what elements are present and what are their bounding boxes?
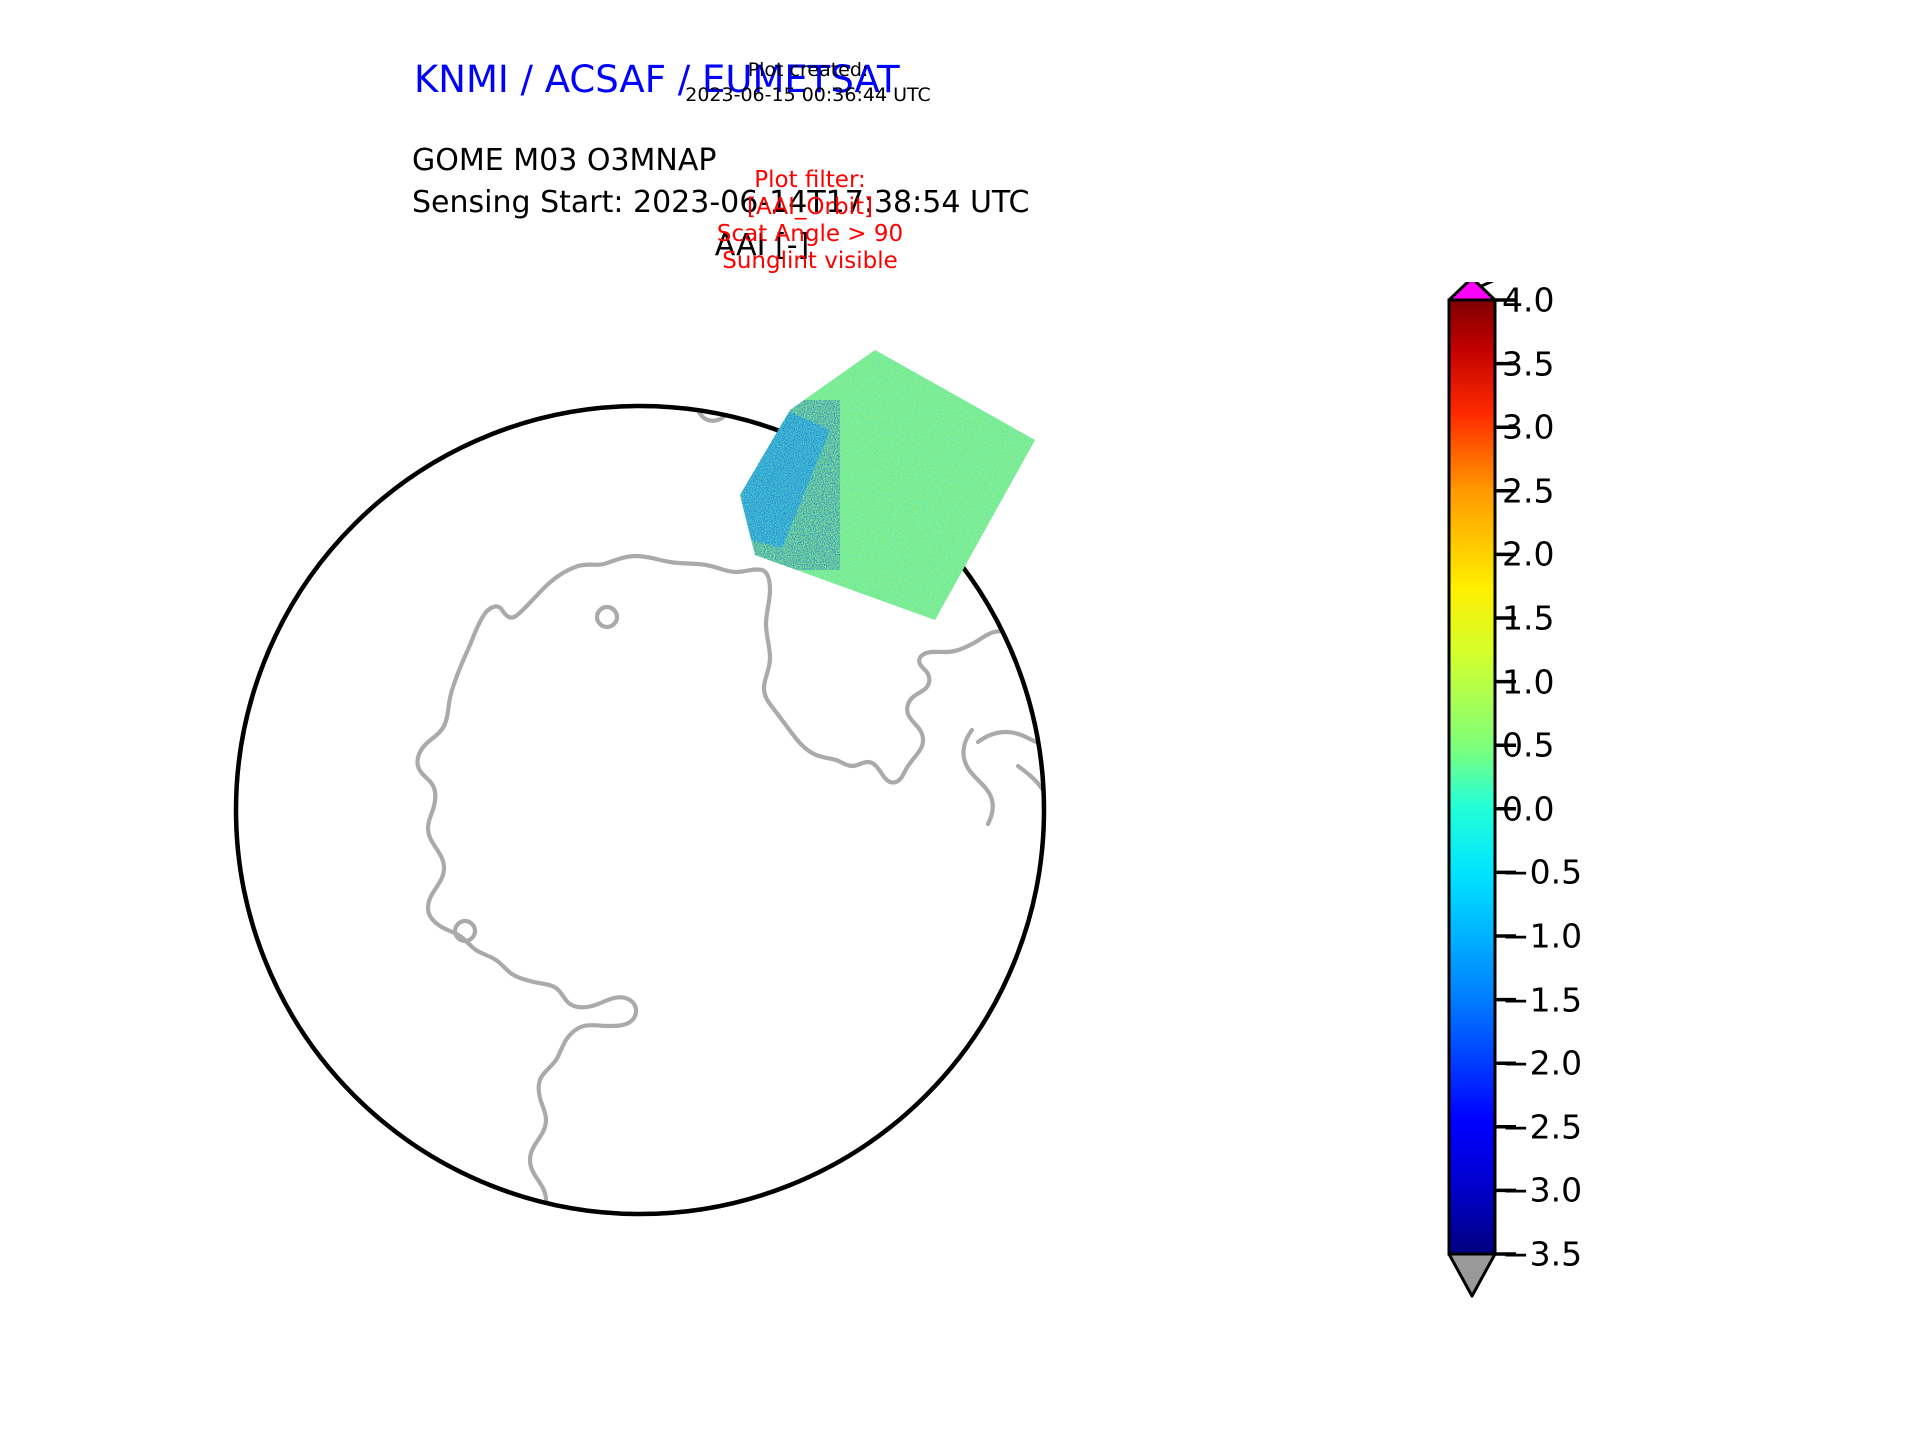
island-falklands <box>524 346 565 380</box>
colorbar-tick-label: 0.0 <box>1502 789 1554 828</box>
south-america-tip <box>664 300 729 421</box>
colorbar-tick-label: 3.5 <box>1502 344 1554 383</box>
colorbar-tick-label: −3.0 <box>1502 1171 1582 1210</box>
plot-filter-orbit: [AAI_Orbit] <box>640 194 980 221</box>
colorbar-tick-labels: 4.0 3.5 3.0 2.5 2.0 1.5 1.0 0.5 0.0 −0.5… <box>1502 282 1652 1302</box>
colorbar: 4.0 3.5 3.0 2.5 2.0 1.5 1.0 0.5 0.0 −0.5… <box>1440 282 1740 1302</box>
plot-root: KNMI / ACSAF / EUMETSAT Plot created: 20… <box>0 0 1920 1440</box>
polar-map-svg <box>130 280 1270 1340</box>
colorbar-tick-label: 2.0 <box>1502 535 1554 574</box>
plot-created-timestamp: 2023-06-15 00:36:44 UTC <box>643 83 973 108</box>
colorbar-gradient <box>1449 300 1495 1254</box>
colorbar-tick-label: −1.5 <box>1502 980 1582 1019</box>
colorbar-tick-label: −2.0 <box>1502 1044 1582 1083</box>
plot-filter-label: Plot filter: <box>640 167 980 194</box>
colorbar-tick-label: 2.5 <box>1502 471 1554 510</box>
colorbar-tick-label: 1.5 <box>1502 599 1554 638</box>
colorbar-tick-label: 3.0 <box>1502 408 1554 447</box>
plot-filter-sunglint: Sunglint visible <box>640 248 980 275</box>
colorbar-tick-label: 1.0 <box>1502 662 1554 701</box>
plot-created-block: Plot created: 2023-06-15 00:36:44 UTC <box>643 58 973 108</box>
colorbar-tick-label: −2.5 <box>1502 1107 1582 1146</box>
colorbar-tick-label: 0.5 <box>1502 726 1554 765</box>
colorbar-under-arrow <box>1449 1254 1495 1296</box>
plot-filter-scat-angle: Scat Angle > 90 <box>640 221 980 248</box>
plot-filter-block: Plot filter: [AAI_Orbit] Scat Angle > 90… <box>640 167 980 275</box>
colorbar-tick-label: −0.5 <box>1502 853 1582 892</box>
colorbar-tick-label: 4.0 <box>1502 281 1554 320</box>
australia-south-coast <box>1090 709 1222 739</box>
plot-created-label: Plot created: <box>643 58 973 83</box>
map-area <box>130 280 1270 1340</box>
colorbar-tick-label: −1.0 <box>1502 917 1582 956</box>
colorbar-tick-label: −3.5 <box>1502 1235 1582 1274</box>
